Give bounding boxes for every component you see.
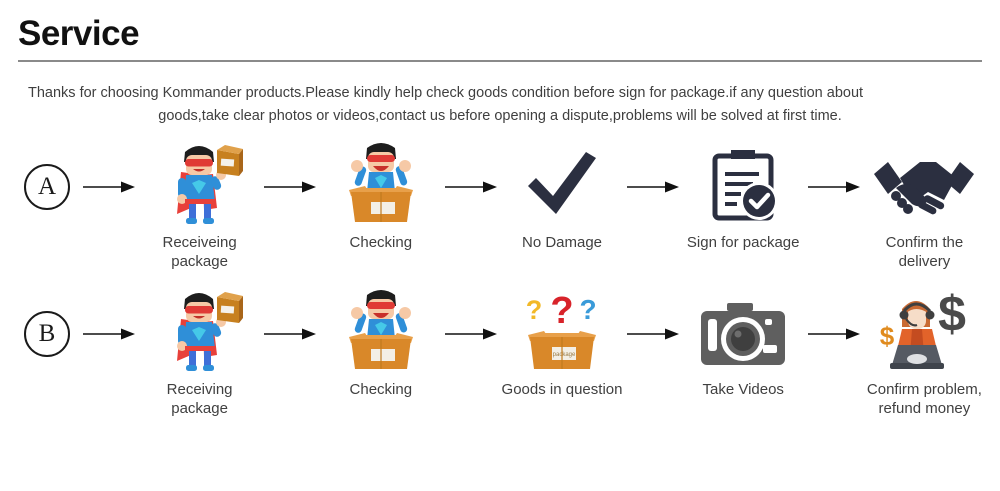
arrow-a-2 xyxy=(442,142,500,194)
support-agent-money-icon: $ $ xyxy=(872,289,976,373)
step-a-1-label: Receiveing package xyxy=(138,233,261,271)
row-badge-a: A xyxy=(24,164,70,210)
step-a-2-icon-wrap xyxy=(339,142,423,226)
person-in-open-box-icon xyxy=(339,142,423,226)
arrow-right-icon xyxy=(627,327,679,341)
arrow-right-icon xyxy=(445,180,497,194)
arrow-right-icon xyxy=(808,327,860,341)
title-divider xyxy=(18,60,982,62)
svg-text:$: $ xyxy=(939,289,967,342)
arrow-b-2 xyxy=(442,289,500,341)
arrow-b-4 xyxy=(805,289,863,341)
header: Service xyxy=(0,0,1000,54)
arrow-b-3 xyxy=(624,289,682,341)
svg-text:$: $ xyxy=(880,321,895,351)
arrow-b-1 xyxy=(261,289,319,341)
intro-line-2: goods,take clear photos or videos,contac… xyxy=(28,105,972,128)
arrow-a-4 xyxy=(805,142,863,194)
service-panel: Service Thanks for choosing Kommander pr… xyxy=(0,0,1000,491)
step-b-3-label: Goods in question xyxy=(502,380,623,399)
arrow-right-icon xyxy=(808,180,860,194)
step-a-confirm-delivery: Confirm the delivery xyxy=(863,142,986,271)
step-b-1-label: Receiving package xyxy=(138,380,261,418)
arrow-a-1 xyxy=(261,142,319,194)
row-badge-b: B xyxy=(24,311,70,357)
step-b-2-icon-wrap xyxy=(339,289,423,373)
step-a-receiving-package: Receiveing package xyxy=(138,142,261,271)
arrow-right-icon xyxy=(264,180,316,194)
svg-text:?: ? xyxy=(526,295,543,325)
step-a-5-label: Confirm the delivery xyxy=(863,233,986,271)
superhero-delivery-icon xyxy=(157,289,243,373)
step-b-1-icon-wrap xyxy=(157,289,243,373)
step-a-4-label: Sign for package xyxy=(687,233,800,252)
step-a-no-damage: No Damage xyxy=(500,142,623,252)
row-b-badge-cell: B xyxy=(14,289,80,357)
step-b-confirm-refund: $ $ xyxy=(863,289,986,418)
arrow-right-icon xyxy=(445,327,497,341)
arrow-a-0 xyxy=(80,142,138,194)
intro-paragraph: Thanks for choosing Kommander products.P… xyxy=(28,82,972,128)
step-b-5-label: Confirm problem, refund money xyxy=(867,380,982,418)
intro-line-1: Thanks for choosing Kommander products.P… xyxy=(28,82,972,105)
arrow-right-icon xyxy=(627,180,679,194)
arrow-a-3 xyxy=(624,142,682,194)
step-a-3-icon-wrap xyxy=(522,142,602,226)
step-a-2-label: Checking xyxy=(350,233,413,252)
handshake-icon xyxy=(870,152,978,226)
step-a-5-icon-wrap xyxy=(870,142,978,226)
step-a-4-icon-wrap xyxy=(705,142,781,226)
person-in-open-box-icon xyxy=(339,289,423,373)
step-b-3-icon-wrap: ? ? ? package xyxy=(516,289,608,373)
checkmark-icon xyxy=(522,146,602,226)
step-b-4-icon-wrap xyxy=(697,289,789,373)
arrow-right-icon xyxy=(264,327,316,341)
step-b-5-icon-wrap: $ $ xyxy=(872,289,976,373)
step-a-sign-for-package: Sign for package xyxy=(682,142,805,252)
step-a-checking: Checking xyxy=(319,142,442,252)
superhero-delivery-icon xyxy=(157,142,243,226)
svg-text:package: package xyxy=(553,352,576,358)
page-title: Service xyxy=(18,14,1000,54)
step-b-checking: Checking xyxy=(319,289,442,399)
flow-row-a: A xyxy=(0,142,1000,277)
step-b-receiving-package: Receiving package xyxy=(138,289,261,418)
step-a-1-icon-wrap xyxy=(157,142,243,226)
arrow-b-0 xyxy=(80,289,138,341)
arrow-right-icon xyxy=(83,180,135,194)
svg-text:?: ? xyxy=(550,290,573,332)
svg-text:?: ? xyxy=(579,294,596,325)
camera-icon xyxy=(697,301,789,373)
step-a-3-label: No Damage xyxy=(522,233,602,252)
flow-row-b: B xyxy=(0,289,1000,439)
clipboard-check-icon xyxy=(705,146,781,226)
step-b-take-videos: Take Videos xyxy=(682,289,805,399)
question-box-icon: ? ? ? package xyxy=(516,289,608,373)
step-b-goods-in-question: ? ? ? package Goods in question xyxy=(500,289,623,399)
step-b-4-label: Take Videos xyxy=(702,380,783,399)
row-a-badge-cell: A xyxy=(14,142,80,210)
step-b-2-label: Checking xyxy=(350,380,413,399)
arrow-right-icon xyxy=(83,327,135,341)
